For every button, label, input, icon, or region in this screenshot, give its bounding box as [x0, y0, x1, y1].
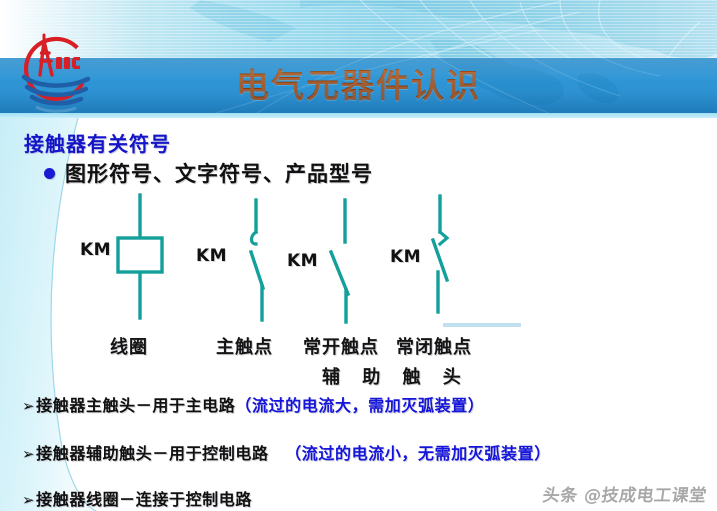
statement-text: 接触器线圈－连接于控制电路	[36, 486, 252, 510]
statement-auxiliary-contact: ➢ 接触器辅助触头－用于控制电路 （流过的电流小，无需加灭弧装置）	[22, 440, 551, 464]
cnooc-logo	[14, 27, 98, 117]
km-label-normally-open: KM	[287, 251, 318, 271]
statement-coil: ➢ 接触器线圈－连接于控制电路	[22, 486, 252, 510]
arrow-bullet-icon: ➢	[22, 491, 35, 509]
symbol-normally-closed-contact	[433, 196, 447, 312]
section-heading: 接触器有关符号	[24, 128, 171, 157]
caption-main-contact: 主触点	[216, 333, 273, 359]
symbol-main-contact	[251, 200, 263, 320]
arrow-bullet-icon: ➢	[22, 397, 35, 415]
statement-text: 接触器辅助触头－用于控制电路	[36, 440, 285, 464]
slide-header: 电气元器件认识	[0, 0, 717, 118]
watermark-text: 头条 @技成电工课堂	[541, 481, 708, 506]
bullet-item: 图形符号、文字符号、产品型号	[44, 158, 373, 188]
caption-auxiliary-contacts: 辅 助 触 头	[322, 363, 469, 389]
km-label-coil: KM	[80, 240, 111, 260]
slide-root: 电气元器件认识	[0, 0, 717, 511]
page-title: 电气元器件认识	[0, 60, 717, 112]
statement-main-contact: ➢ 接触器主触头－用于主电路 （流过的电流大，需加灭弧装置）	[22, 392, 484, 416]
caption-normally-open: 常开触点	[303, 333, 379, 359]
km-label-main-contact: KM	[196, 246, 227, 266]
caption-normally-closed: 常闭触点	[396, 333, 472, 359]
statement-text: 接触器主触头－用于主电路	[36, 392, 235, 416]
symbol-coil	[118, 195, 162, 318]
caption-coil: 线圈	[110, 333, 148, 359]
caption-underline	[443, 323, 521, 327]
symbol-normally-open-contact	[331, 200, 348, 322]
statement-note: （流过的电流小，无需加灭弧装置）	[285, 440, 551, 464]
statement-note: （流过的电流大，需加灭弧装置）	[235, 392, 484, 416]
contactor-symbol-diagram	[0, 190, 717, 340]
bullet-dot-icon	[44, 168, 55, 179]
km-label-normally-closed: KM	[390, 247, 421, 267]
arrow-bullet-icon: ➢	[22, 445, 35, 463]
bullet-item-label: 图形符号、文字符号、产品型号	[65, 158, 373, 188]
